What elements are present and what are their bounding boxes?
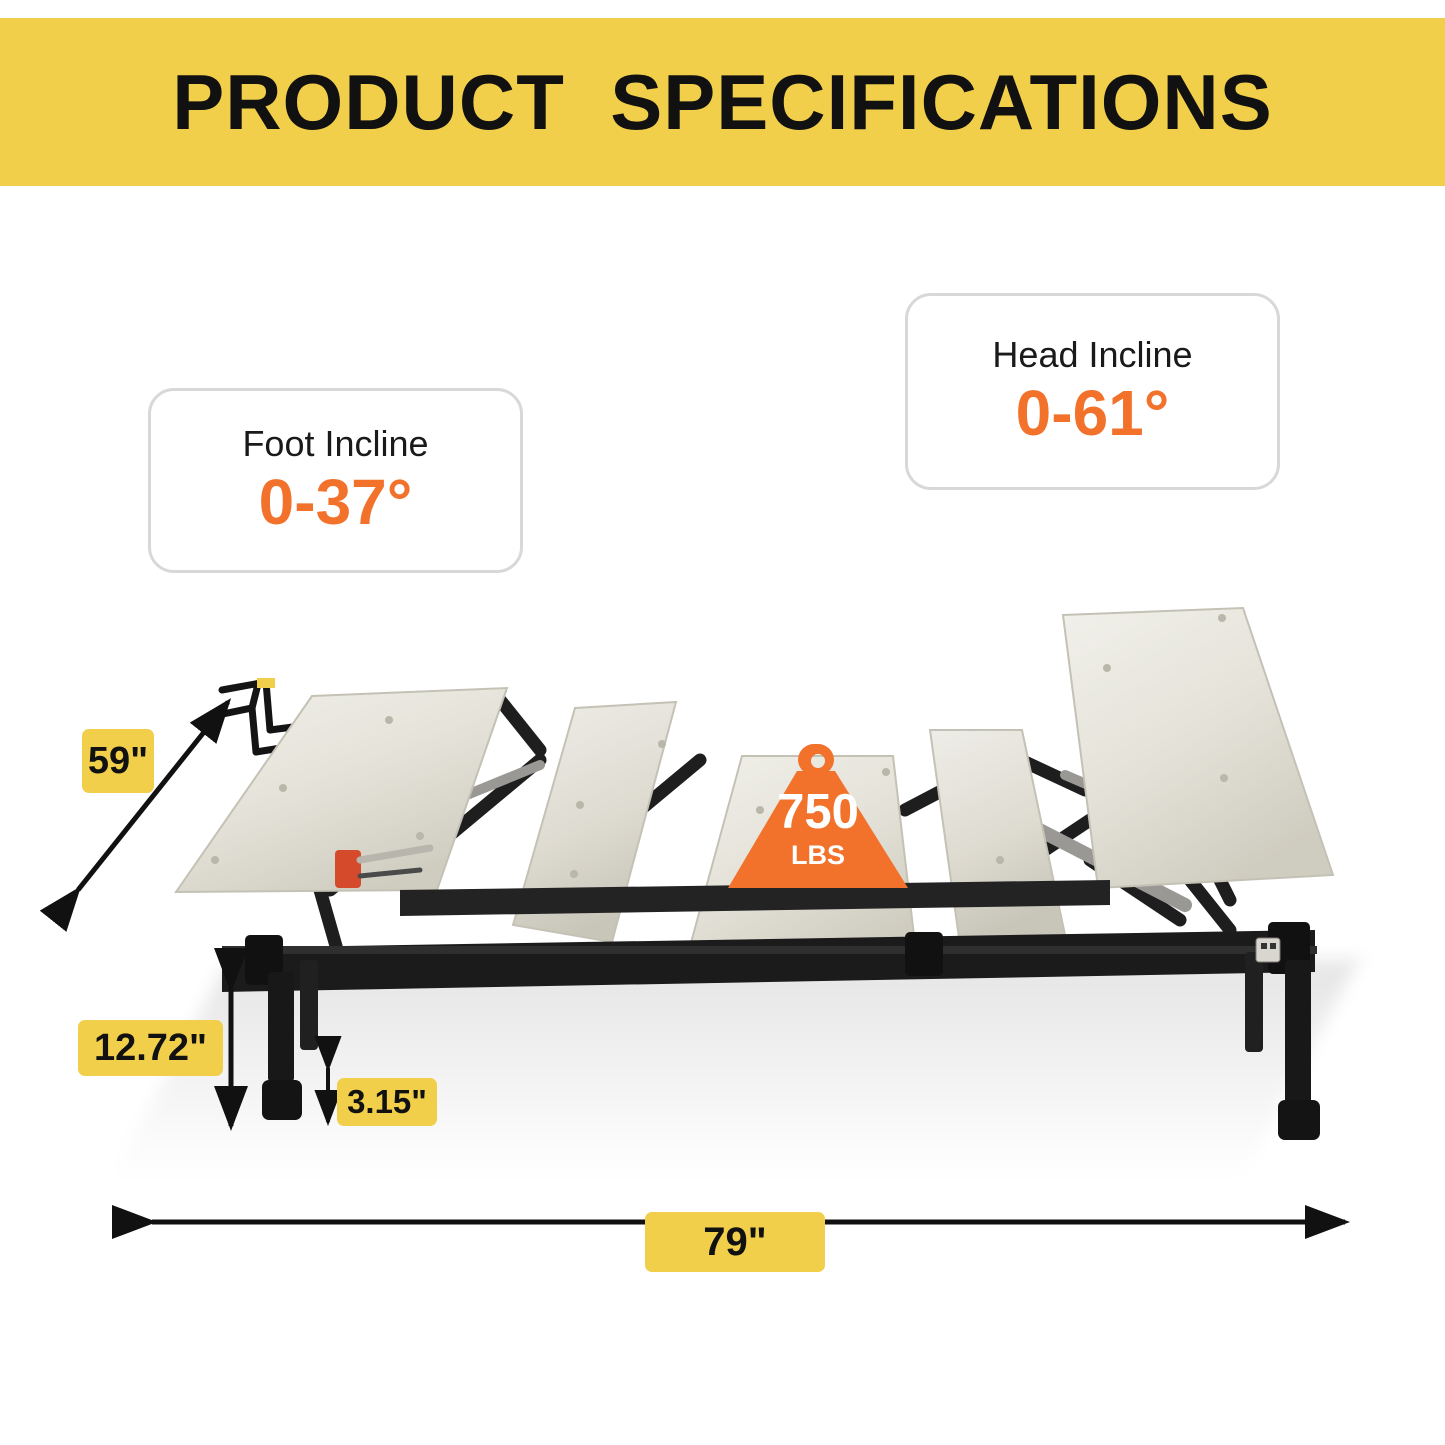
panel-head-lift bbox=[930, 730, 1065, 945]
callout-foot-incline: Foot Incline 0-37° bbox=[148, 388, 523, 573]
wire-harness bbox=[335, 848, 430, 888]
weight-number: 750 bbox=[728, 788, 908, 837]
control-box bbox=[1256, 938, 1280, 962]
callout-foot-incline-label: Foot Incline bbox=[242, 424, 428, 464]
bed-illustration bbox=[0, 560, 1445, 1320]
retainer-bracket bbox=[218, 682, 331, 752]
callout-head-incline-value: 0-61° bbox=[1016, 378, 1170, 448]
panel-head-end bbox=[1063, 608, 1333, 888]
header-banner: PRODUCT SPECIFICATIONS bbox=[0, 18, 1445, 186]
product-diagram: 750 LBS bbox=[0, 560, 1445, 1320]
dimension-label-leg-height: 3.15" bbox=[337, 1078, 437, 1126]
panel-foot-lift bbox=[513, 702, 676, 942]
weight-text-group: 750 LBS bbox=[728, 788, 908, 869]
dimension-label-length: 79" bbox=[645, 1212, 825, 1272]
weight-capacity-badge: 750 LBS bbox=[728, 738, 908, 898]
panel-foot-end bbox=[176, 688, 507, 892]
floor-shadow bbox=[112, 960, 1359, 1180]
dimension-label-width-diagonal: 59" bbox=[82, 729, 154, 793]
callout-foot-incline-value: 0-37° bbox=[259, 467, 413, 537]
page-title: PRODUCT SPECIFICATIONS bbox=[172, 57, 1273, 148]
callout-head-incline: Head Incline 0-61° bbox=[905, 293, 1280, 490]
dimension-label-total-height: 12.72" bbox=[78, 1020, 223, 1076]
bracket-marker bbox=[257, 678, 275, 688]
panel-fasteners bbox=[211, 614, 1228, 878]
callout-head-incline-label: Head Incline bbox=[992, 335, 1192, 375]
weight-unit: LBS bbox=[728, 842, 908, 869]
